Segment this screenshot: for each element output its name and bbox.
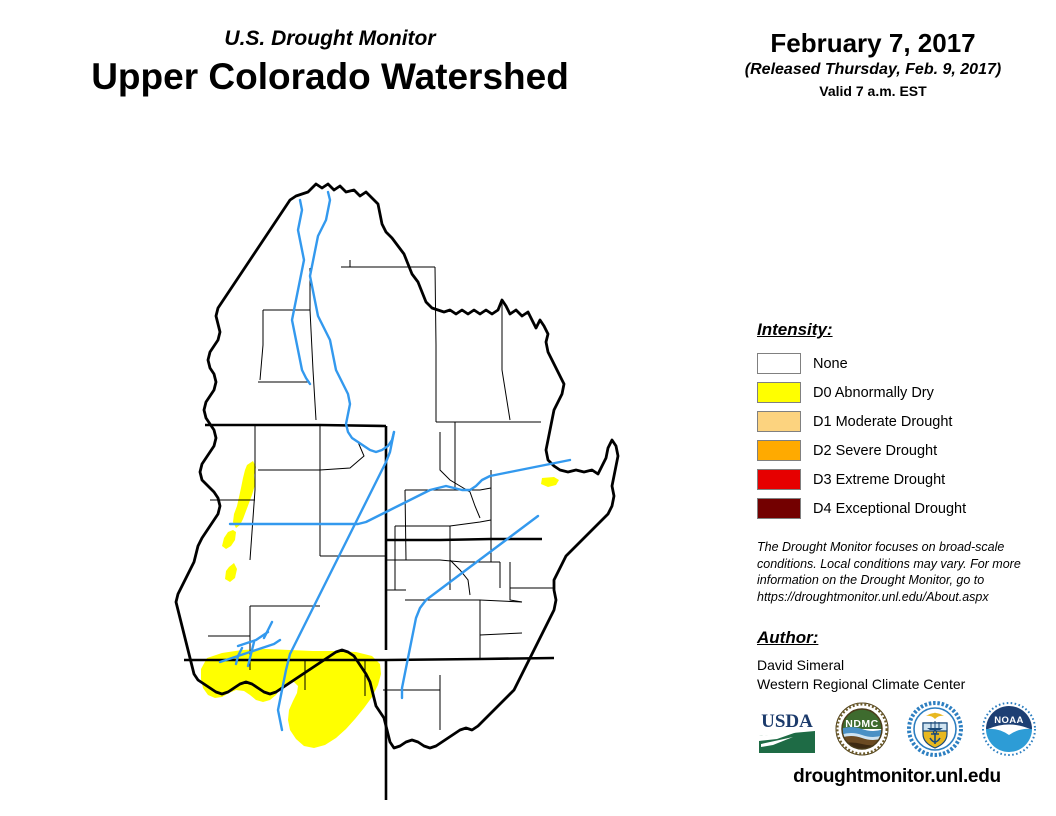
legend-item-none[interactable]: None [757,349,1037,378]
legend-label-d3: D3 Extreme Drought [813,472,945,488]
noaa-logo[interactable]: NOAA [981,702,1037,761]
legend-label-d1: D1 Moderate Drought [813,414,952,430]
program-subtitle: U.S. Drought Monitor [0,26,660,52]
author-name: David Simeral [757,656,1037,675]
logo-row: USDA NDMC [757,702,1037,760]
legend-swatch-none [757,353,801,374]
usda-logo[interactable]: USDA [757,703,817,760]
legend-label-d0: D0 Abnormally Dry [813,385,934,401]
svg-text:USDA: USDA [761,711,813,732]
legend-swatch-d1 [757,411,801,432]
legend-label-none: None [813,356,848,372]
legend: Intensity: None D0 Abnormally Dry D1 Mod… [757,320,1037,523]
title-block: U.S. Drought Monitor Upper Colorado Wate… [0,26,660,100]
author-block: Author: David Simeral Western Regional C… [757,628,1037,694]
date-block: February 7, 2017 (Released Thursday, Feb… [690,28,1056,101]
map-date: February 7, 2017 [690,28,1056,58]
legend-swatch-d0 [757,382,801,403]
svg-text:NOAA: NOAA [994,715,1024,726]
ndmc-logo[interactable]: NDMC [835,702,889,761]
legend-item-d0[interactable]: D0 Abnormally Dry [757,378,1037,407]
disclaimer-text: The Drought Monitor focuses on broad-sca… [757,539,1027,605]
legend-item-d4[interactable]: D4 Exceptional Drought [757,494,1037,523]
author-heading: Author: [757,628,1037,648]
site-url[interactable]: droughtmonitor.unl.edu [757,766,1037,788]
legend-swatch-d4 [757,498,801,519]
usdc-seal-logo[interactable] [907,701,963,762]
svg-text:NDMC: NDMC [845,718,879,730]
author-affiliation: Western Regional Climate Center [757,675,1037,694]
legend-label-d2: D2 Severe Drought [813,443,937,459]
legend-label-d4: D4 Exceptional Drought [813,501,966,517]
page-title: Upper Colorado Watershed [0,54,660,100]
legend-swatch-d2 [757,440,801,461]
upper-colorado-watershed-drought-map[interactable] [150,170,620,800]
legend-item-d1[interactable]: D1 Moderate Drought [757,407,1037,436]
legend-heading: Intensity: [757,320,1037,340]
legend-item-d2[interactable]: D2 Severe Drought [757,436,1037,465]
valid-time: Valid 7 a.m. EST [690,81,1056,101]
release-date: (Released Thursday, Feb. 9, 2017) [690,59,1056,80]
legend-swatch-d3 [757,469,801,490]
legend-item-d3[interactable]: D3 Extreme Drought [757,465,1037,494]
